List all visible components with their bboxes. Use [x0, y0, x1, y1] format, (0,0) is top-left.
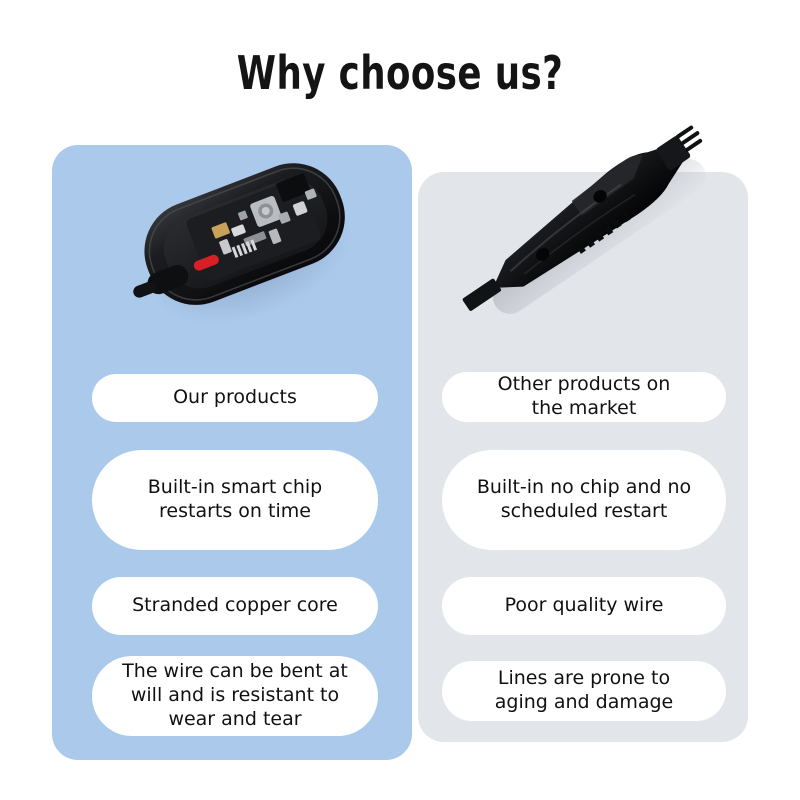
right-pill-feature-3[interactable]: Lines are prone to aging and damage — [442, 661, 726, 721]
right-pill-heading[interactable]: Other products on the market — [442, 372, 726, 422]
right-pill-feature-2[interactable]: Poor quality wire — [442, 577, 726, 635]
left-pill-feature-2[interactable]: Stranded copper core — [92, 577, 378, 635]
left-pill-heading[interactable]: Our products — [92, 374, 378, 422]
comparison-section: Our products Built-in smart chip restart… — [0, 0, 800, 800]
left-pill-feature-3[interactable]: The wire can be bent at will and is resi… — [92, 656, 378, 736]
left-pill-feature-1[interactable]: Built-in smart chip restarts on time — [92, 450, 378, 550]
right-pill-feature-1[interactable]: Built-in no chip and no scheduled restar… — [442, 450, 726, 550]
